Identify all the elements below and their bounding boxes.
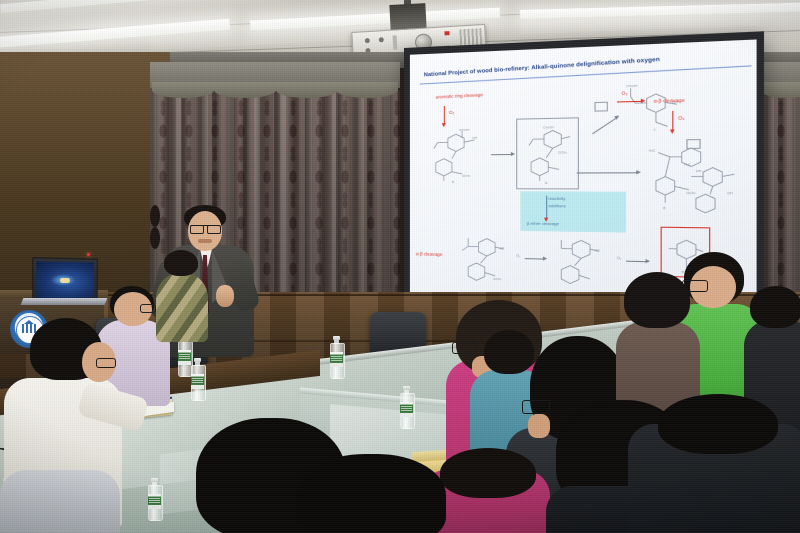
presenter-glasses <box>190 225 220 230</box>
chem-structure-a: a OH CH₂OH OCH₃ <box>428 127 487 185</box>
audience-hair <box>658 394 778 454</box>
svg-text:b: b <box>545 181 547 185</box>
label-oxygen-1: O₂ <box>449 110 454 115</box>
label-oxygen-3: O₂ <box>678 115 684 121</box>
slide-highlight-box: reactivity additions β-ether cleavage <box>520 191 626 232</box>
seminar-room-photo: NP-1000 National Project of wood bio-ref… <box>0 0 800 533</box>
svg-text:CH₂OH: CH₂OH <box>459 128 469 132</box>
highlight-text-1: reactivity <box>548 196 565 201</box>
svg-text:CH₂OH: CH₂OH <box>543 125 554 129</box>
audience-glasses <box>452 342 476 354</box>
svg-text:a: a <box>452 180 454 184</box>
svg-text:OH: OH <box>727 191 733 196</box>
highlight-text-2: additions <box>548 203 565 208</box>
audience-glasses <box>96 358 116 368</box>
audience-hair <box>750 286 800 328</box>
chem-structure-bottom-1: OH OCH₃ <box>456 228 516 289</box>
ceiling-light <box>0 0 280 13</box>
presenter-hand-right <box>216 285 234 307</box>
arrow-right-reaction-4 <box>626 261 647 263</box>
arrow-right-reaction-3 <box>525 258 544 260</box>
arrow-right-reaction-1 <box>491 154 512 155</box>
svg-text:OH: OH <box>499 246 504 250</box>
svg-text:OCH₃: OCH₃ <box>462 174 471 178</box>
audience-shirt <box>0 470 120 533</box>
arrow-diagonal-reaction <box>592 117 617 134</box>
audience-shirt <box>156 272 208 342</box>
chem-structure-c: CH₂OH OH c <box>619 80 686 145</box>
svg-text:OCH₃: OCH₃ <box>558 150 568 154</box>
arrow-down-oxygen-2 <box>672 111 673 131</box>
svg-text:d: d <box>663 206 666 210</box>
laptop-screen <box>36 261 94 298</box>
chem-tag-box-2 <box>686 139 700 149</box>
curtain-valance <box>150 62 400 88</box>
chem-structure-bottom-2: OH <box>548 229 612 292</box>
svg-text:OH: OH <box>472 136 477 140</box>
chem-structure-b: CH₂OH OCH₃ b <box>520 122 574 186</box>
audience-glasses <box>140 304 156 313</box>
label-oxygen-5: O₂ <box>617 256 621 260</box>
audience-hair <box>484 330 534 374</box>
chem-structure-far-right: H₂C OH <box>682 152 752 219</box>
svg-text:c: c <box>654 128 656 132</box>
label-aromatic-ring-cleavage: aromatic ring cleavage <box>436 92 483 99</box>
label-alpha-beta-cleavage-top: α-β cleavage <box>654 97 685 103</box>
wall-left-wood <box>0 52 170 292</box>
label-oxygen-2: O₂ <box>621 90 627 96</box>
highlight-text-3: β-ether cleavage <box>527 221 559 227</box>
audience-glasses <box>522 400 550 414</box>
laptop-power-led <box>87 253 90 256</box>
svg-text:OH: OH <box>594 248 599 252</box>
arrow-right-reaction-2 <box>577 172 638 173</box>
label-oxygen-4: O₂ <box>516 254 520 258</box>
arrow-down-oxygen <box>444 106 445 124</box>
svg-text:OCH₃: OCH₃ <box>493 277 502 281</box>
audience-hair <box>624 272 690 328</box>
svg-text:H₂C: H₂C <box>684 162 691 166</box>
audience-hair <box>296 454 446 533</box>
svg-text:CH₂OH: CH₂OH <box>626 84 638 89</box>
audience-face <box>528 414 550 438</box>
label-alpha-beta-cleavage-bottom: α-β cleavage <box>416 251 442 257</box>
audience-hair <box>164 250 198 276</box>
chem-tag-box <box>594 102 607 112</box>
svg-text:H₂C: H₂C <box>649 148 655 152</box>
audience-hair <box>440 448 536 498</box>
